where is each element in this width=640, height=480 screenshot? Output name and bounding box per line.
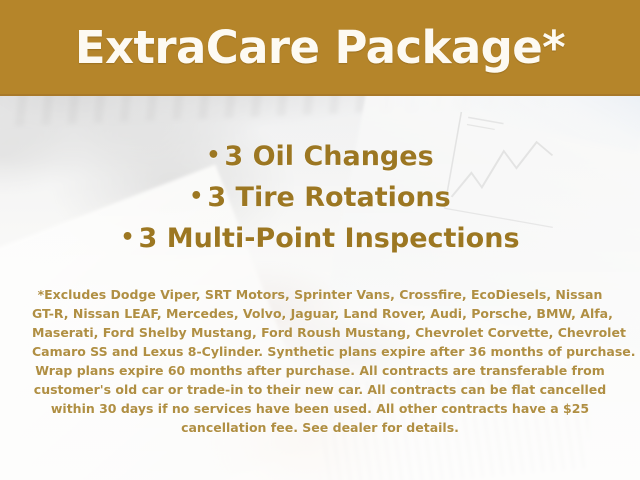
disclaimer-line: GT-R, Nissan LEAF, Mercedes, Volvo, Jagu… (32, 304, 608, 323)
header-banner: ExtraCare Package* (0, 0, 640, 96)
benefit-item-oil-changes: •3 Oil Changes (0, 136, 640, 177)
disclaimer-line: *Excludes Dodge Viper, SRT Motors, Sprin… (32, 285, 608, 304)
disclaimer-line: within 30 days if no services have been … (32, 399, 608, 418)
benefit-item-tire-rotations: •3 Tire Rotations (0, 177, 640, 218)
benefits-list: •3 Oil Changes •3 Tire Rotations •3 Mult… (0, 136, 640, 259)
disclaimer-line: customer's old car or trade-in to their … (32, 380, 608, 399)
disclaimer-fine-print: *Excludes Dodge Viper, SRT Motors, Sprin… (32, 285, 608, 437)
page-title: ExtraCare Package* (75, 25, 565, 70)
bullet-dot-icon: • (120, 225, 138, 250)
disclaimer-line: cancellation fee. See dealer for details… (32, 418, 608, 437)
disclaimer-line: Maserati, Ford Shelby Mustang, Ford Rous… (32, 323, 608, 342)
benefit-item-multi-point-inspections: •3 Multi-Point Inspections (0, 218, 640, 259)
benefit-item-label: 3 Oil Changes (224, 141, 433, 172)
bullet-dot-icon: • (189, 184, 207, 209)
benefit-item-label: 3 Multi-Point Inspections (139, 223, 520, 254)
benefit-item-label: 3 Tire Rotations (207, 182, 450, 213)
extracare-package-promo-card: ExtraCare Package* •3 Oil Changes •3 Tir… (0, 0, 640, 480)
bullet-dot-icon: • (206, 143, 224, 168)
disclaimer-line: Wrap plans expire 60 months after purcha… (32, 361, 608, 380)
disclaimer-line: Camaro SS and Lexus 8-Cylinder. Syntheti… (32, 342, 608, 361)
